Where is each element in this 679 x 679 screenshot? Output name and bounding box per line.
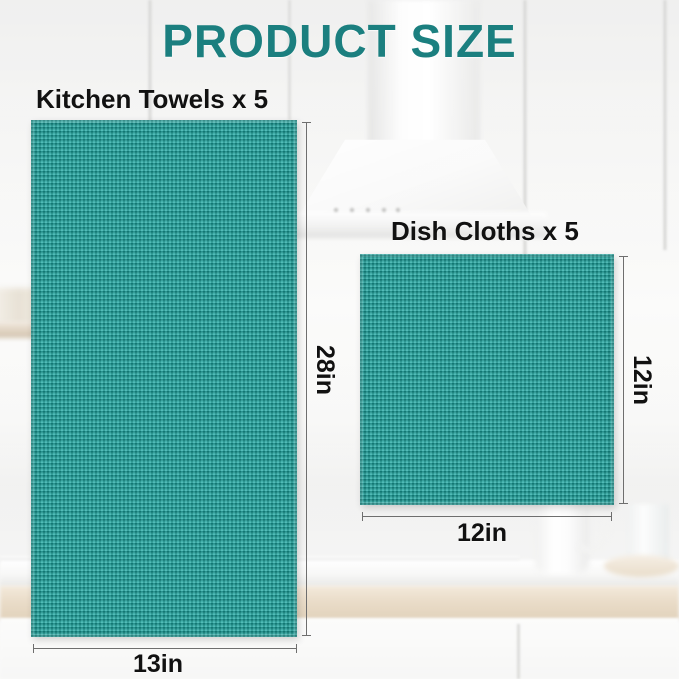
kitchen-towel-label: Kitchen Towels x 5: [36, 84, 268, 115]
kitchen-towel-height-label: 28in: [310, 345, 339, 395]
kitchen-towel-swatch: [31, 120, 297, 637]
product-size-infographic: PRODUCT SIZE Kitchen Towels x 5 28in 13i…: [0, 0, 679, 679]
kitchen-towel-width-label: 13in: [133, 650, 183, 679]
kitchen-towel-height-dimension-line: [306, 122, 307, 636]
dish-cloth-height-dimension-line: [623, 256, 624, 504]
page-title: PRODUCT SIZE: [0, 14, 679, 68]
dish-cloth-swatch: [360, 254, 614, 505]
dish-cloth-width-label: 12in: [457, 519, 507, 548]
kitchen-towel-width-dimension-line: [33, 648, 297, 649]
plate-prop: [604, 555, 679, 577]
lower-cabinet-seam: [517, 624, 520, 679]
dish-cloth-label: Dish Cloths x 5: [391, 216, 579, 247]
dish-cloth-height-label: 12in: [627, 355, 656, 405]
range-hood-vent-dots: [330, 207, 400, 214]
pitcher-handle-prop: [570, 500, 610, 554]
dish-cloth-width-dimension-line: [362, 516, 612, 517]
